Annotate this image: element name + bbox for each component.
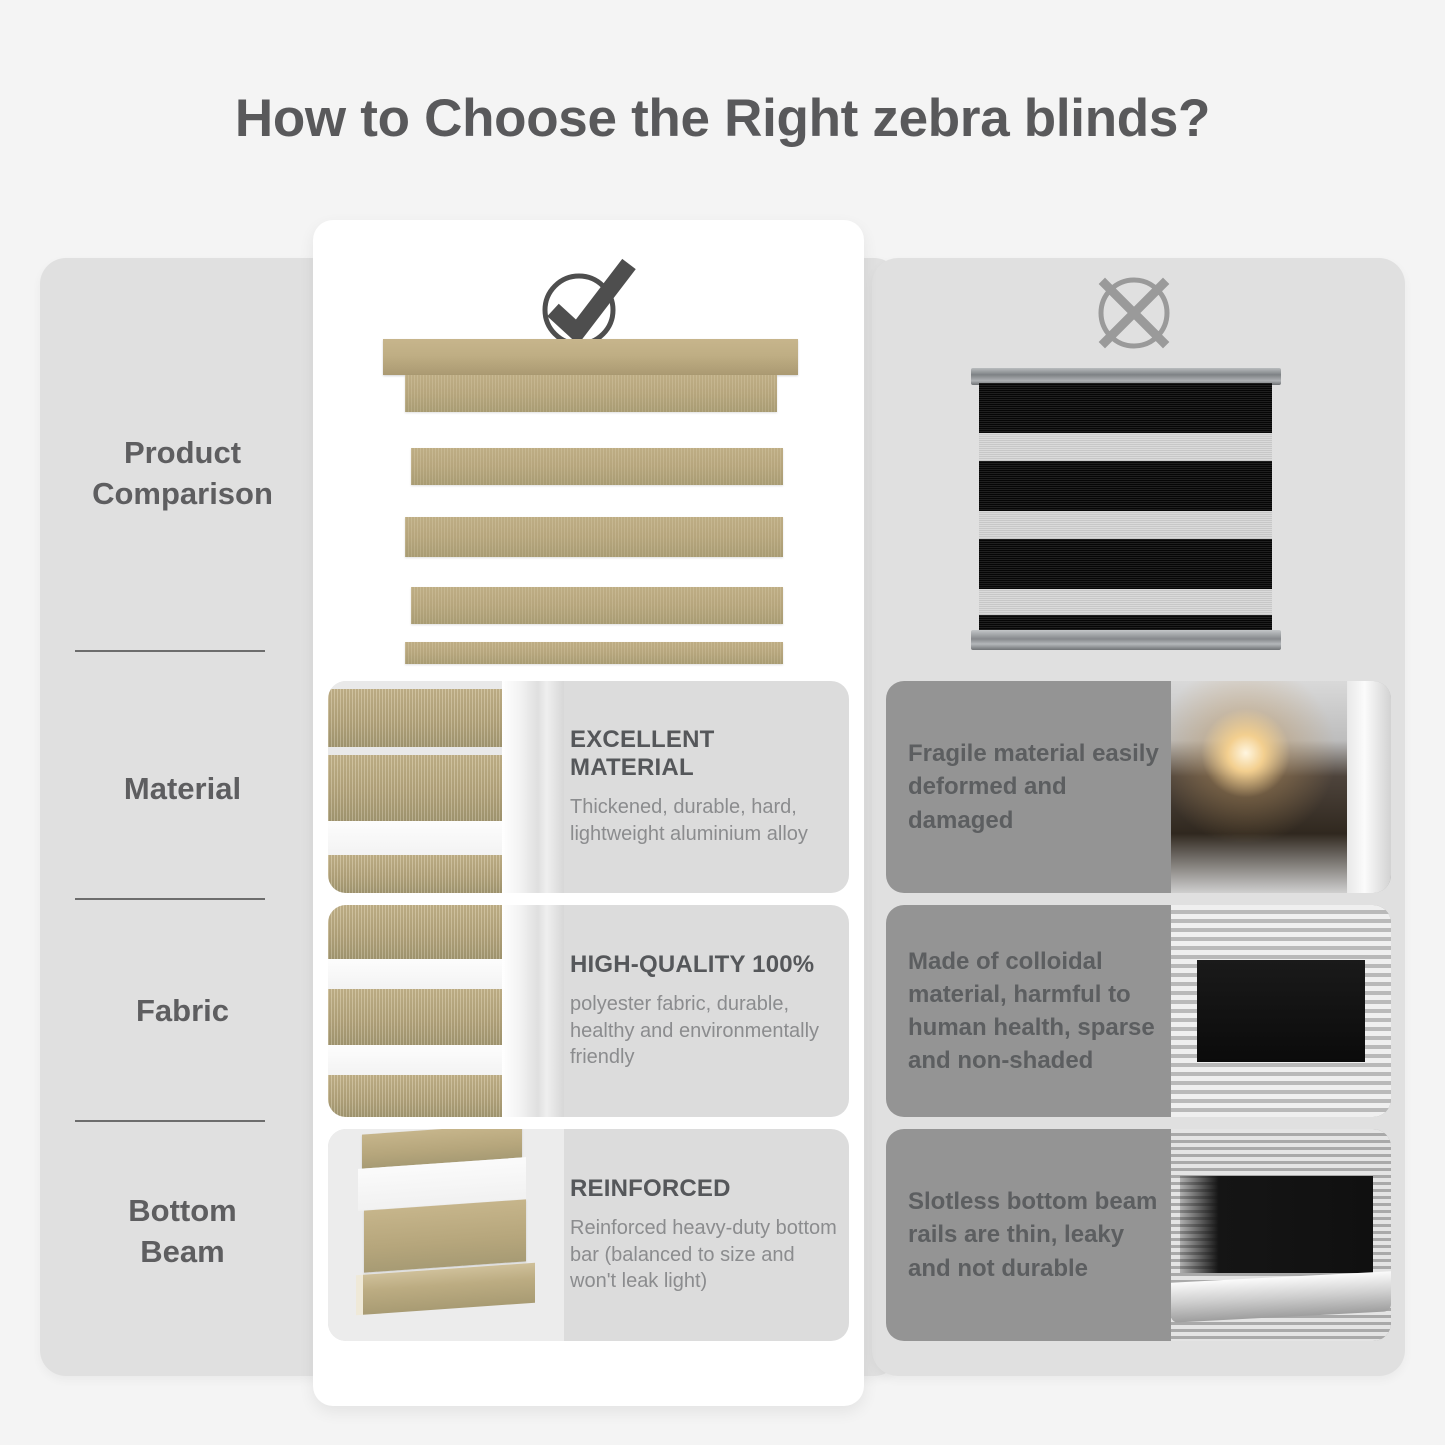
bad-feature-card-material: Fragile material easily deformed and dam… <box>886 681 1391 893</box>
page-title: How to Choose the Right zebra blinds? <box>0 88 1445 149</box>
blind-bottom-bar <box>971 630 1281 650</box>
cross-circle-icon <box>1079 263 1189 363</box>
row-label-line-2: Beam <box>60 1231 305 1272</box>
row-divider <box>75 1120 265 1122</box>
row-divider <box>75 650 265 652</box>
row-label-line-1: Product <box>60 432 305 473</box>
check-circle-icon <box>533 252 643 352</box>
feature-heading: HIGH-QUALITY 100% <box>570 951 840 979</box>
blind-headrail <box>383 339 798 375</box>
tan-blind-fabric-photo <box>328 905 564 1117</box>
row-label-product-comparison: Product Comparison <box>60 432 305 514</box>
feature-heading: REINFORCED <box>570 1175 840 1203</box>
feature-heading: Slotless bottom beam rails are thin, lea… <box>908 1185 1170 1284</box>
good-feature-card-bottom-beam: REINFORCED Reinforced heavy-duty bottom … <box>328 1129 849 1341</box>
row-label-line-1: Bottom <box>60 1190 305 1231</box>
blind-slat <box>411 448 783 485</box>
thin-bottom-rail-photo <box>1171 1129 1391 1341</box>
feature-heading: Made of colloidal material, harmful to h… <box>908 945 1170 1077</box>
bad-feature-card-fabric: Made of colloidal material, harmful to h… <box>886 905 1391 1117</box>
feature-body: Thickened, durable, hard, lightweight al… <box>570 794 840 848</box>
tan-bottom-beam-photo <box>328 1129 564 1341</box>
bad-feature-text-material: Fragile material easily deformed and dam… <box>908 681 1170 893</box>
feature-body: Reinforced heavy-duty bottom bar (balanc… <box>570 1215 840 1295</box>
row-label-line-2: Comparison <box>60 473 305 514</box>
good-feature-text-bottom-beam: REINFORCED Reinforced heavy-duty bottom … <box>570 1129 840 1341</box>
blind-slat <box>405 517 783 557</box>
bad-feature-text-bottom-beam: Slotless bottom beam rails are thin, lea… <box>908 1129 1170 1341</box>
feature-heading: Fragile material easily deformed and dam… <box>908 737 1170 836</box>
row-label-material: Material <box>60 768 305 809</box>
row-divider <box>75 898 265 900</box>
blind-slat <box>411 587 783 624</box>
good-feature-text-fabric: HIGH-QUALITY 100% polyester fabric, dura… <box>570 905 840 1117</box>
black-zebra-blind-hero-image <box>971 368 1281 651</box>
tan-zebra-blind-hero-image <box>383 339 798 664</box>
blind-slat <box>405 375 777 412</box>
good-feature-card-material: EXCELLENT MATERIAL Thickened, durable, h… <box>328 681 849 893</box>
good-feature-text-material: EXCELLENT MATERIAL Thickened, durable, h… <box>570 681 840 893</box>
black-striped-sheer-blind-photo <box>1171 905 1391 1117</box>
row-label-fabric: Fabric <box>60 990 305 1031</box>
bad-feature-card-bottom-beam: Slotless bottom beam rails are thin, lea… <box>886 1129 1391 1341</box>
good-feature-card-fabric: HIGH-QUALITY 100% polyester fabric, dura… <box>328 905 849 1117</box>
tan-blind-window-frame-photo <box>328 681 564 893</box>
sunlit-damaged-blind-photo <box>1171 681 1391 893</box>
feature-body: polyester fabric, durable, healthy and e… <box>570 991 840 1071</box>
row-label-bottom-beam: Bottom Beam <box>60 1190 305 1272</box>
bad-feature-text-fabric: Made of colloidal material, harmful to h… <box>908 905 1170 1117</box>
blind-fabric <box>979 383 1272 631</box>
blind-bottom-bar <box>405 642 783 664</box>
feature-heading: EXCELLENT MATERIAL <box>570 726 840 782</box>
